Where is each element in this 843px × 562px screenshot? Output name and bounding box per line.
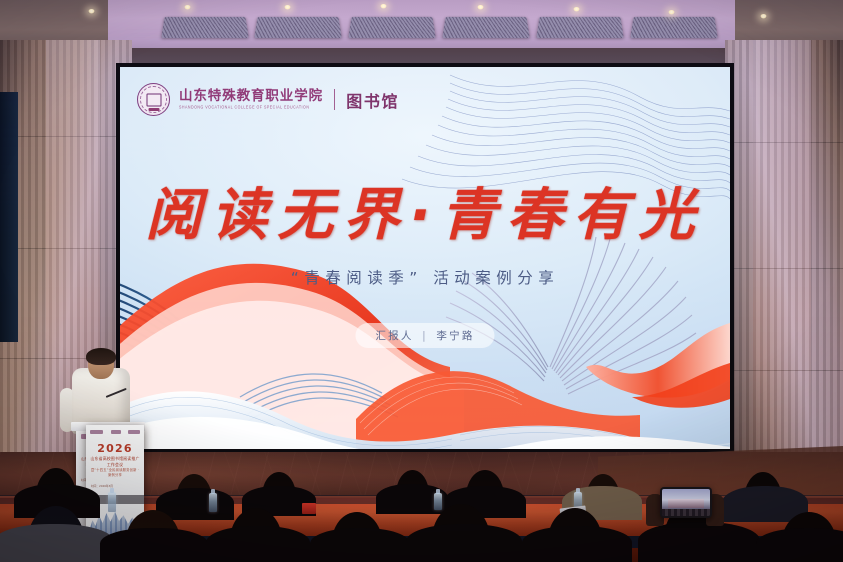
ceiling-vent-5 — [536, 17, 623, 38]
smartphone-recording[interactable] — [660, 487, 712, 518]
audience-shoulders — [638, 522, 760, 562]
university-seal-icon — [137, 83, 170, 116]
audience-shoulders — [206, 526, 310, 562]
audience-shoulders — [100, 528, 208, 562]
downlight-5 — [477, 5, 484, 10]
downlight-1 — [88, 9, 95, 14]
slide-main-title: 阅读无界·青春有光 — [120, 170, 730, 251]
presenter-label: 汇报人 — [375, 330, 413, 342]
downlight-6 — [573, 7, 580, 12]
left-door-recess — [0, 92, 18, 342]
university-name-block: 山东特殊教育职业学院 SHANDONG VOCATIONAL COLLEGE O… — [179, 90, 323, 110]
slide-logo-block: 山东特殊教育职业学院 SHANDONG VOCATIONAL COLLEGE O… — [137, 83, 399, 116]
speaker-hair — [86, 348, 116, 365]
audience-shoulders — [406, 524, 522, 562]
water-bottle — [108, 492, 116, 512]
slide-subtitle: “青春阅读季” 活动案例分享 — [120, 266, 730, 288]
audience-shoulders — [310, 528, 410, 562]
university-name-en: SHANDONG VOCATIONAL COLLEGE OF SPECIAL E… — [179, 106, 323, 110]
presenter-divider: | — [422, 330, 428, 342]
presenter-name: 李宁路 — [436, 330, 474, 342]
university-name-cn: 山东特殊教育职业学院 — [179, 90, 323, 104]
department-name: 图书馆 — [346, 88, 399, 112]
right-wall-panels — [725, 40, 843, 470]
downlight-8 — [760, 14, 767, 19]
ceiling-vent-6 — [630, 17, 717, 38]
ceiling-vent-2 — [254, 17, 341, 38]
audience-shoulders — [756, 528, 843, 562]
slide-artwork — [120, 67, 730, 449]
audience-shoulders — [522, 526, 632, 562]
phone-viewfinder — [662, 489, 710, 516]
led-screen-frame: 山东特殊教育职业学院 SHANDONG VOCATIONAL COLLEGE O… — [116, 63, 734, 453]
presentation-slide: 山东特殊教育职业学院 SHANDONG VOCATIONAL COLLEGE O… — [120, 67, 730, 449]
downlight-2 — [184, 5, 191, 10]
audience-shoulders — [0, 524, 114, 562]
audience-area — [0, 422, 843, 562]
downlight-7 — [668, 10, 675, 15]
water-bottle — [209, 493, 217, 512]
presenter-badge: 汇报人 | 李宁路 — [355, 323, 494, 348]
downlight-3 — [284, 5, 291, 10]
ceiling-vent-1 — [161, 17, 248, 38]
ceiling-vent-4 — [442, 17, 529, 38]
auditorium-photo: 山东特殊教育职业学院 SHANDONG VOCATIONAL COLLEGE O… — [0, 0, 843, 562]
water-bottle — [434, 493, 442, 510]
ceiling-vent-3 — [348, 17, 435, 38]
downlight-4 — [380, 4, 387, 9]
paper-cup — [302, 503, 316, 514]
logo-divider — [334, 89, 335, 110]
